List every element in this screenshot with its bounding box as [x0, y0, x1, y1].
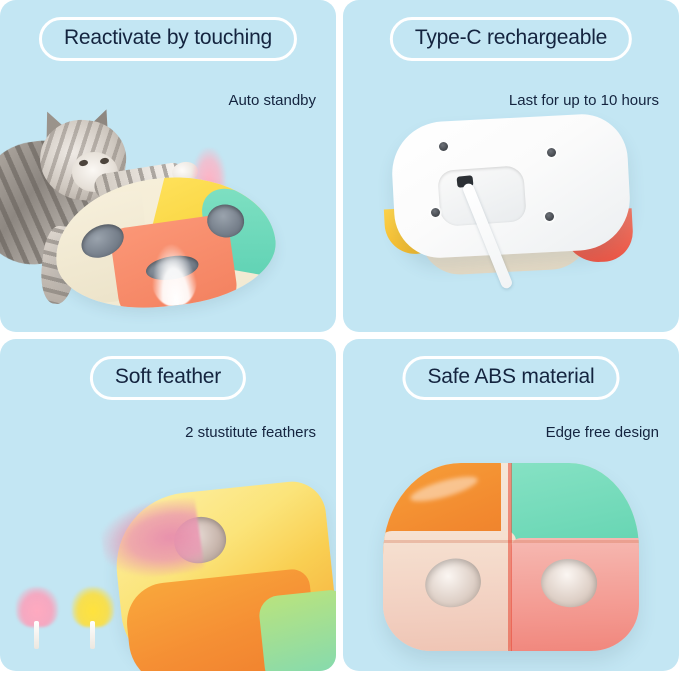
panel-charging: Type-C rechargeable Last for up to 10 ho… — [343, 0, 679, 332]
pink-stick — [34, 621, 39, 649]
feature-panel-grid: Reactivate by touching Auto standby Type… — [0, 0, 679, 675]
panel-feather: Soft feather 2 stustitute feathers — [0, 339, 336, 671]
panel-title-reactivate: Reactivate by touching — [39, 17, 297, 61]
yellow-feather-prop — [70, 587, 116, 649]
panel-reactivate: Reactivate by touching Auto standby — [0, 0, 336, 332]
panel-caption-reactivate: Auto standby — [228, 92, 316, 109]
pink-feather-in-hole — [97, 497, 204, 584]
pink-feather-prop — [14, 587, 60, 649]
toy-shell-side — [383, 463, 639, 651]
screw-top-right — [547, 148, 556, 157]
panel-caption-feather: 2 stustitute feathers — [185, 424, 316, 441]
screw-bottom-right — [545, 212, 554, 221]
panel-caption-material: Edge free design — [546, 424, 659, 441]
toy-divider-vertical — [508, 463, 512, 651]
screw-top-left — [439, 142, 448, 151]
toy-shell — [49, 167, 281, 317]
screw-bottom-left — [431, 208, 440, 217]
cat-toy-top-view — [49, 167, 281, 317]
cat-toy-closeup — [112, 471, 336, 671]
panel-title-charging: Type-C rechargeable — [390, 17, 632, 61]
yellow-stick — [90, 621, 95, 649]
cat-toy-underside — [387, 112, 637, 292]
panel-title-material: Safe ABS material — [402, 356, 619, 400]
cat-toy-side-view — [383, 463, 639, 651]
panel-material: Safe ABS material Edge free design — [343, 339, 679, 671]
panel-caption-charging: Last for up to 10 hours — [509, 92, 659, 109]
substitute-feather-props — [14, 587, 124, 657]
toy-body-green — [257, 589, 336, 671]
panel-title-feather: Soft feather — [90, 356, 246, 400]
